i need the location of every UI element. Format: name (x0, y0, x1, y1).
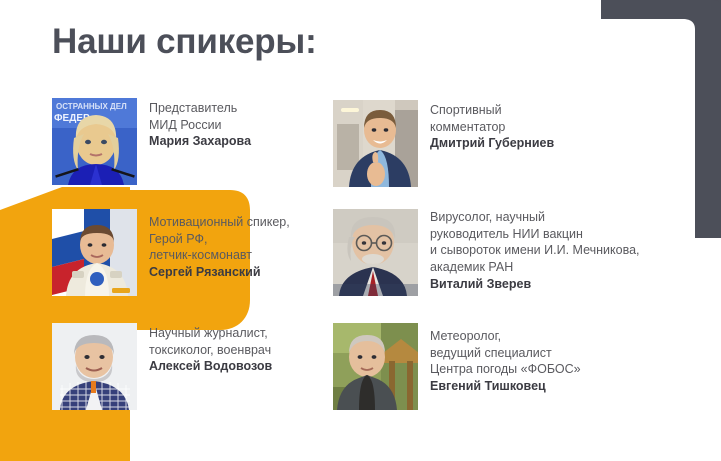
speaker-name: Сергей Рязанский (149, 264, 290, 281)
speaker-role-line: комментатор (430, 119, 554, 136)
speaker-role-line: Метеоролог, (430, 328, 581, 345)
speaker-role-line: токсиколог, военврач (149, 342, 272, 359)
photo-alexey-vodovozov (52, 323, 137, 410)
speaker-role-line: Представитель (149, 100, 251, 117)
speaker-role-line: Герой РФ, (149, 231, 290, 248)
speakers-column-right: Спортивный комментатор Дмитрий Губерниев (333, 0, 663, 461)
gray-bracket-vertical (695, 0, 721, 238)
speaker-role-line: ведущий специалист (430, 345, 581, 362)
speaker-info: Метеоролог, ведущий специалист Центра по… (430, 323, 581, 395)
speaker-role-line: МИД России (149, 117, 251, 134)
speaker-role-line: академик РАН (430, 259, 640, 276)
photo-vitaly-zverev (333, 209, 418, 296)
speaker-role-line: руководитель НИИ вакцин (430, 226, 640, 243)
speaker-info: Представитель МИД России Мария Захарова (149, 98, 251, 150)
speaker-name: Мария Захарова (149, 133, 251, 150)
speaker-info: Вирусолог, научный руководитель НИИ вакц… (430, 209, 640, 292)
speaker-info: Мотивационный спикер, Герой РФ, летчик-к… (149, 209, 290, 281)
speaker-role-line: Спортивный (430, 102, 554, 119)
speaker-role-line: летчик-космонавт (149, 247, 290, 264)
speaker-card-sergey-ryazanskiy[interactable]: Мотивационный спикер, Герой РФ, летчик-к… (52, 209, 290, 296)
speaker-name: Алексей Водовозов (149, 358, 272, 375)
speaker-role-line: и сывороток имени И.И. Мечникова, (430, 242, 640, 259)
speaker-name: Евгений Тишковец (430, 378, 581, 395)
speaker-card-dmitry-guberniev[interactable]: Спортивный комментатор Дмитрий Губерниев (333, 100, 554, 187)
photo-evgeniy-tishkovets (333, 323, 418, 410)
speaker-role-line: Вирусолог, научный (430, 209, 640, 226)
speaker-role-line: Мотивационный спикер, (149, 214, 290, 231)
speaker-name: Виталий Зверев (430, 276, 640, 293)
speaker-card-maria-zakharova[interactable]: ОСТРАННЫХ ДЕЛ ФЕДЕР Представитель (52, 98, 251, 185)
photo-maria-zakharova: ОСТРАННЫХ ДЕЛ ФЕДЕР (52, 98, 137, 185)
slide-canvas: Наши спикеры: ОСТРАННЫХ ДЕЛ ФЕДЕР (0, 0, 721, 461)
speaker-card-vitaly-zverev[interactable]: Вирусолог, научный руководитель НИИ вакц… (333, 209, 640, 296)
speaker-info: Спортивный комментатор Дмитрий Губерниев (430, 100, 554, 152)
speaker-info: Научный журналист, токсиколог, военврач … (149, 323, 272, 375)
svg-text:ОСТРАННЫХ ДЕЛ: ОСТРАННЫХ ДЕЛ (56, 102, 127, 111)
speaker-role-line: Центра погоды «ФОБОС» (430, 361, 581, 378)
speaker-role-line: Научный журналист, (149, 325, 272, 342)
speaker-card-evgeniy-tishkovets[interactable]: Метеоролог, ведущий специалист Центра по… (333, 323, 581, 410)
photo-sergey-ryazanskiy (52, 209, 137, 296)
photo-dmitry-guberniev (333, 100, 418, 187)
speaker-card-alexey-vodovozov[interactable]: Научный журналист, токсиколог, военврач … (52, 323, 272, 410)
speaker-name: Дмитрий Губерниев (430, 135, 554, 152)
